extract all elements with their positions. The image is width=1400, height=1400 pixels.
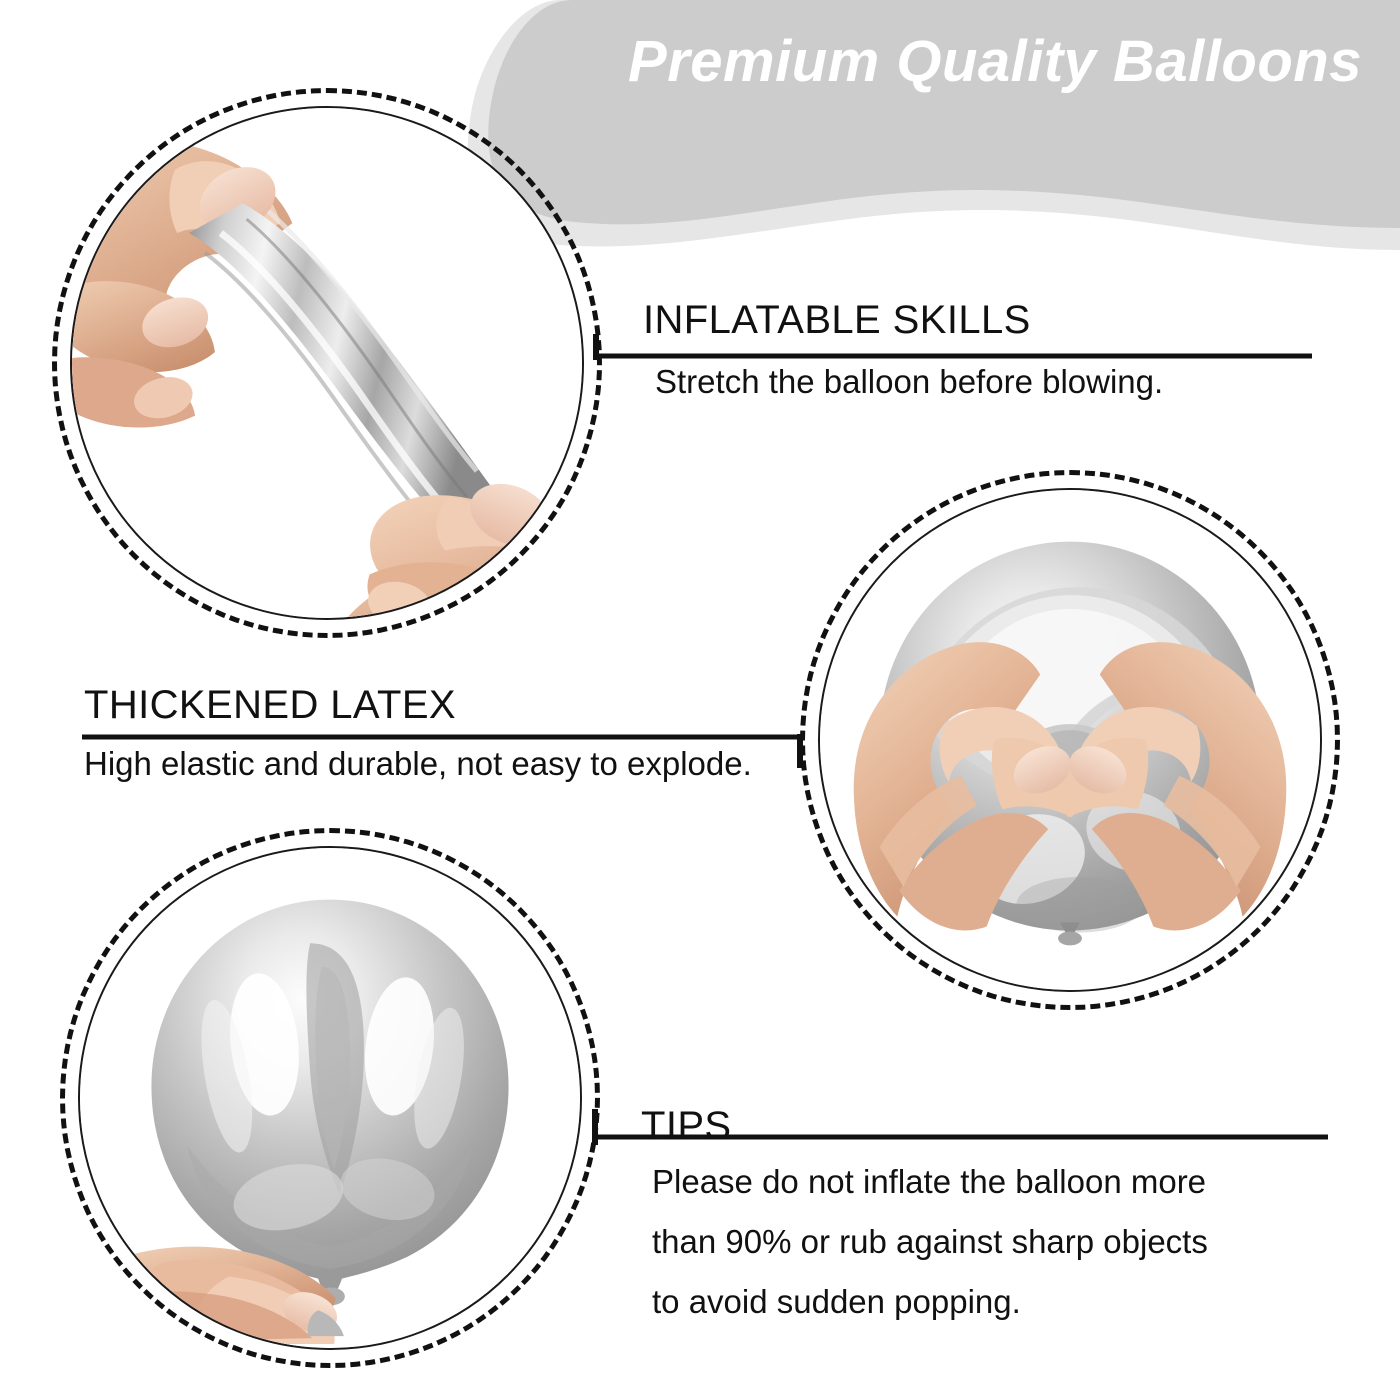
- photo-hands-squeezing-balloon: [820, 490, 1320, 990]
- photo-circle-hold: [78, 846, 582, 1350]
- feature-body-wrap-inflatable-skills: Stretch the balloon before blowing.: [655, 363, 1163, 401]
- feature-body-inflatable-skills: Stretch the balloon before blowing.: [655, 363, 1163, 401]
- infographic-page: Premium Quality Balloons: [0, 0, 1400, 1400]
- photo-circle-squeeze: [818, 488, 1322, 992]
- feature-heading-thickened-latex: THICKENED LATEX: [84, 683, 456, 728]
- feature-body-wrap-thickened-latex: High elastic and durable, not easy to ex…: [84, 745, 752, 783]
- feature-heading-inflatable-skills: INFLATABLE SKILLS: [643, 298, 1031, 343]
- photo-hand-holding-balloon: [80, 848, 580, 1348]
- feature-text-inflatable-skills: INFLATABLE SKILLS: [643, 298, 1031, 343]
- feature-body-tips-line-3: to avoid sudden popping.: [652, 1283, 1208, 1321]
- photo-circle-stretch: [70, 106, 584, 620]
- feature-text-tips: TIPS: [641, 1104, 732, 1149]
- feature-body-thickened-latex: High elastic and durable, not easy to ex…: [84, 745, 752, 783]
- page-title: Premium Quality Balloons: [600, 28, 1390, 95]
- feature-body-tips-line-2: than 90% or rub against sharp objects: [652, 1223, 1208, 1261]
- feature-text-thickened-latex: THICKENED LATEX: [84, 683, 456, 728]
- feature-heading-tips: TIPS: [641, 1104, 732, 1149]
- feature-body-tips-line-1: Please do not inflate the balloon more: [652, 1163, 1208, 1201]
- feature-body-wrap-tips: Please do not inflate the balloon more t…: [652, 1163, 1208, 1321]
- photo-hands-stretching-balloon: [72, 108, 582, 618]
